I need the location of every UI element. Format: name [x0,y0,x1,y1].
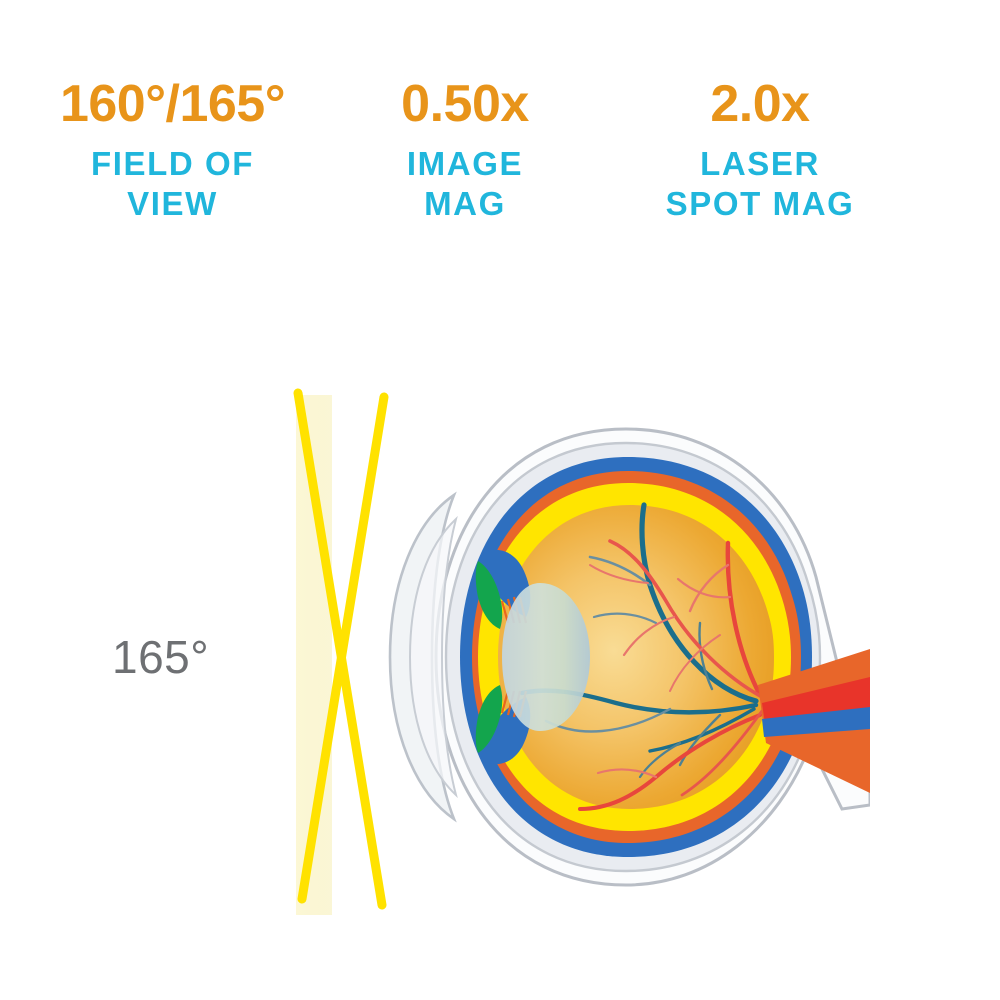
stat-block-laser-spot-mag: 2.0x LASER SPOT MAG [595,78,925,225]
spec-stats-row: 160°/165° FIELD OF VIEW 0.50x IMAGE MAG … [0,78,1000,225]
page-root: 160°/165° FIELD OF VIEW 0.50x IMAGE MAG … [0,0,1000,1000]
stat-label-image-mag: IMAGE MAG [407,144,523,225]
stat-value-image-mag: 0.50x [401,78,529,130]
eye-diagram-svg [250,385,870,945]
stat-block-image-mag: 0.50x IMAGE MAG [345,78,585,225]
angle-caption: 165° [112,634,209,680]
stat-block-field-of-view: 160°/165° FIELD OF VIEW [0,78,345,225]
stat-value-field-of-view: 160°/165° [60,78,285,130]
eye-cross-section-diagram [250,385,870,945]
stat-label-laser-spot-mag: LASER SPOT MAG [666,144,855,225]
stat-value-laser-spot-mag: 2.0x [710,78,809,130]
stat-label-field-of-view: FIELD OF VIEW [91,144,254,225]
